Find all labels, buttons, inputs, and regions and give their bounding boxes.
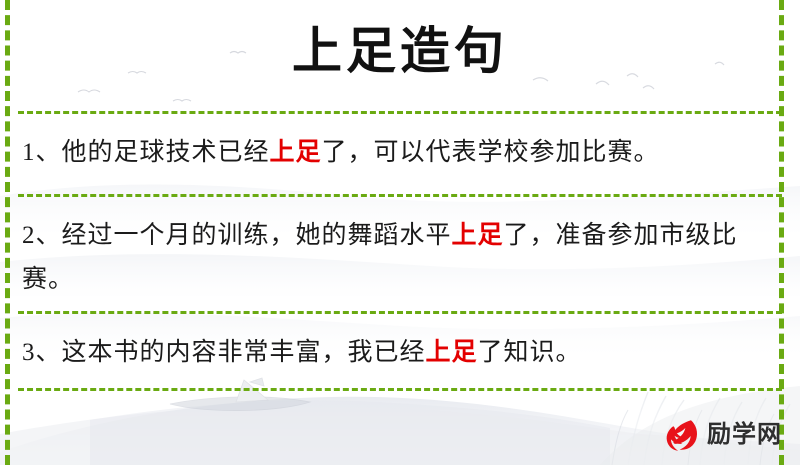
separator-above-sentence-1 [18,111,782,114]
sentence-number-1: 1、 [22,139,62,166]
sentence-text-after-1: 了，可以代表学校参加比赛。 [322,139,660,166]
sentence-number-3: 3、 [22,339,62,366]
sentence-text-after-3: 了知识。 [478,339,582,366]
page-title: 上足造句 [0,18,800,84]
separator-above-sentence-2 [18,194,782,197]
sentence-text-before-1: 他的足球技术已经 [62,139,270,166]
sentence-keyword-3: 上足 [426,339,478,366]
red-flame-swirl-icon [662,416,700,454]
worksheet-page: 上足造句 1、他的足球技术已经上足了，可以代表学校参加比赛。 2、经过一个月的训… [0,0,800,465]
sentence-number-2: 2、 [22,222,62,249]
separator-below-sentence-3 [18,388,782,391]
site-logo-text: 励学网 [707,423,782,447]
sentence-item-2: 2、经过一个月的训练，她的舞蹈水平上足了，准备参加市级比赛。 [22,214,770,302]
sentence-keyword-2: 上足 [452,222,504,249]
sentence-item-1: 1、他的足球技术已经上足了，可以代表学校参加比赛。 [22,131,770,175]
sentence-text-before-2: 经过一个月的训练，她的舞蹈水平 [62,222,452,249]
site-logo: 励学网 [662,414,782,456]
sentence-item-3: 3、这本书的内容非常丰富，我已经上足了知识。 [22,331,770,375]
separator-above-sentence-3 [18,311,782,314]
sentence-keyword-1: 上足 [270,139,322,166]
sentence-text-before-3: 这本书的内容非常丰富，我已经 [62,339,426,366]
